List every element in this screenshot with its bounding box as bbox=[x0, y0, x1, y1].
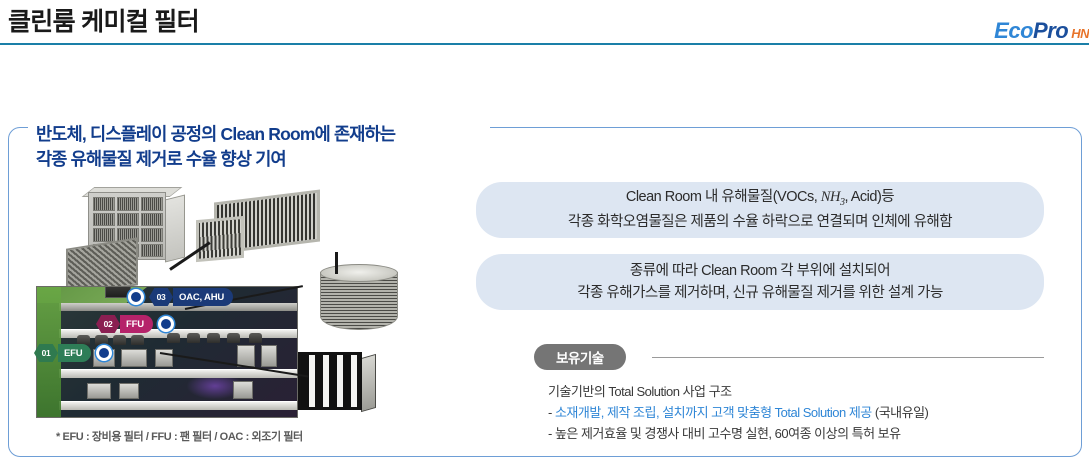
info-box-2-line-1: 종류에 따라 Clean Room 각 부위에 설치되어 bbox=[630, 260, 890, 282]
tech-bullet-1: - 소재개발, 제작 조립, 설치까지 고객 맞춤형 Total Solutio… bbox=[548, 403, 928, 424]
callout-label-ffu: FFU bbox=[120, 315, 153, 333]
callout-number-efu: 01 bbox=[34, 344, 58, 362]
tech-bullet-1-highlight: 소재개발, 제작 조립, 설치까지 고객 맞춤형 Total Solution … bbox=[555, 405, 872, 420]
leader-line-cylinder bbox=[335, 252, 338, 274]
callout-label-oac: OAC, AHU bbox=[173, 288, 233, 306]
headline-line-1: 반도체, 디스플레이 공정의 Clean Room에 존재하는 bbox=[36, 122, 395, 147]
info-box-2-line-2: 각종 유해가스를 제거하며, 신규 유해물질 제거를 위한 설계 가능 bbox=[577, 282, 943, 304]
tech-section-badge: 보유기술 bbox=[534, 344, 626, 370]
vbank-face bbox=[298, 352, 362, 410]
info-box-hazardous-substances: Clean Room 내 유해물질(VOCs, NH3, Acid)등 각종 화… bbox=[476, 182, 1044, 238]
cabinet-side bbox=[165, 195, 185, 263]
photo-cylindrical-filter bbox=[320, 264, 398, 336]
tech-bullet-2: - 높은 제거효율 및 경쟁사 대비 고수명 실현, 60여종 이상의 특허 보… bbox=[548, 424, 928, 445]
callout-badge-efu[interactable]: 01 EFU bbox=[34, 344, 112, 362]
ecopro-hn-logo: Eco Pro HN bbox=[994, 18, 1089, 44]
callout-label-efu: EFU bbox=[58, 344, 91, 362]
title-divider bbox=[0, 43, 1089, 45]
logo-text-hn: HN bbox=[1071, 26, 1089, 41]
tech-bullet-list: 기술기반의 Total Solution 사업 구조 - 소재개발, 제작 조립… bbox=[548, 382, 928, 444]
tech-intro: 기술기반의 Total Solution 사업 구조 bbox=[548, 382, 928, 403]
photo-pleated-panel-filter-small bbox=[196, 216, 244, 262]
photo-vbank-filter bbox=[298, 352, 376, 410]
cylinder-top bbox=[320, 264, 398, 282]
section-headline: 반도체, 디스플레이 공정의 Clean Room에 존재하는 각종 유해물질 … bbox=[36, 122, 395, 172]
info-box-1-line-1: Clean Room 내 유해물질(VOCs, NH3, Acid)등 bbox=[626, 186, 894, 211]
diagram-footnote: * EFU : 장비용 필터 / FFU : 팬 필터 / OAC : 외조기 … bbox=[56, 428, 303, 444]
chemical-formula-nh3: NH3 bbox=[821, 189, 845, 205]
vbank-side bbox=[361, 354, 376, 412]
callout-dot-efu bbox=[96, 345, 112, 361]
callout-dot-ffu bbox=[158, 316, 174, 332]
callout-badge-ffu[interactable]: 02 FFU bbox=[96, 315, 174, 333]
callout-dot-oac bbox=[128, 289, 144, 305]
logo-text-eco: Eco bbox=[994, 18, 1033, 44]
callout-number-ffu: 02 bbox=[96, 315, 120, 333]
info-box-1-line-2: 각종 화학오염물질은 제품의 수율 하락으로 연결되며 인체에 유해함 bbox=[568, 211, 952, 233]
page-title: 클린룸 케미컬 필터 bbox=[8, 2, 199, 38]
logo-text-pro: Pro bbox=[1033, 18, 1068, 44]
headline-line-2: 각종 유해물질 제거로 수율 향상 기여 bbox=[36, 147, 395, 172]
callout-number-oac: 03 bbox=[149, 288, 173, 306]
info-box-installation: 종류에 따라 Clean Room 각 부위에 설치되어 각종 유해가스를 제거… bbox=[476, 254, 1044, 310]
cleanroom-floor-3 bbox=[59, 401, 298, 410]
callout-badge-oac[interactable]: 03 OAC, AHU bbox=[128, 288, 233, 306]
tech-section-divider bbox=[652, 357, 1044, 358]
